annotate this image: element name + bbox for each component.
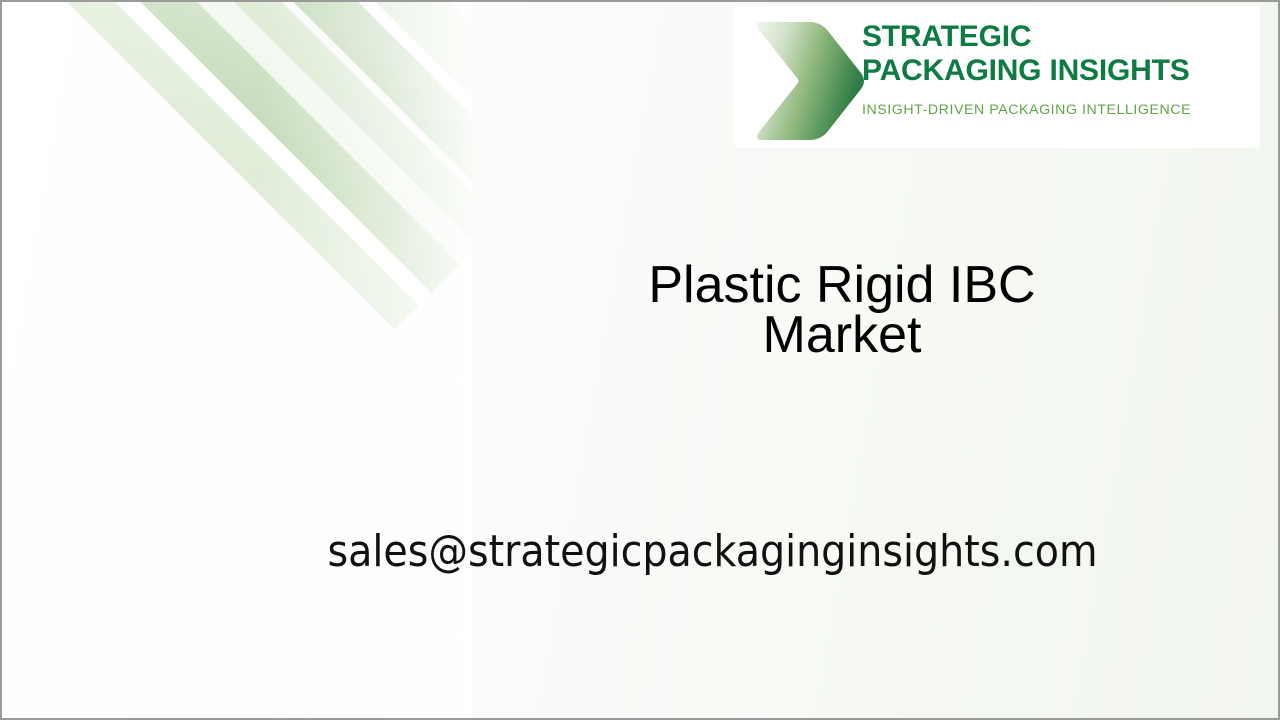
chevron-right-icon xyxy=(749,16,867,146)
decorative-bands-svg xyxy=(2,2,472,720)
slide-title: Plastic Rigid IBC Market xyxy=(442,260,1242,360)
logo-tagline: INSIGHT-DRIVEN PACKAGING INTELLIGENCE xyxy=(862,102,1257,118)
contact-email: sales@strategicpackaginginsights.com xyxy=(2,523,1280,581)
presentation-slide: STRATEGIC PACKAGING INSIGHTS INSIGHT-DRI… xyxy=(0,0,1280,720)
chevron-left-pattern-decoration xyxy=(2,2,472,720)
logo-wordmark: STRATEGIC PACKAGING INSIGHTS INSIGHT-DRI… xyxy=(862,20,1257,118)
logo-line-2: PACKAGING INSIGHTS xyxy=(862,54,1257,88)
company-logo: STRATEGIC PACKAGING INSIGHTS INSIGHT-DRI… xyxy=(735,6,1260,148)
logo-line-1: STRATEGIC xyxy=(862,20,1257,54)
